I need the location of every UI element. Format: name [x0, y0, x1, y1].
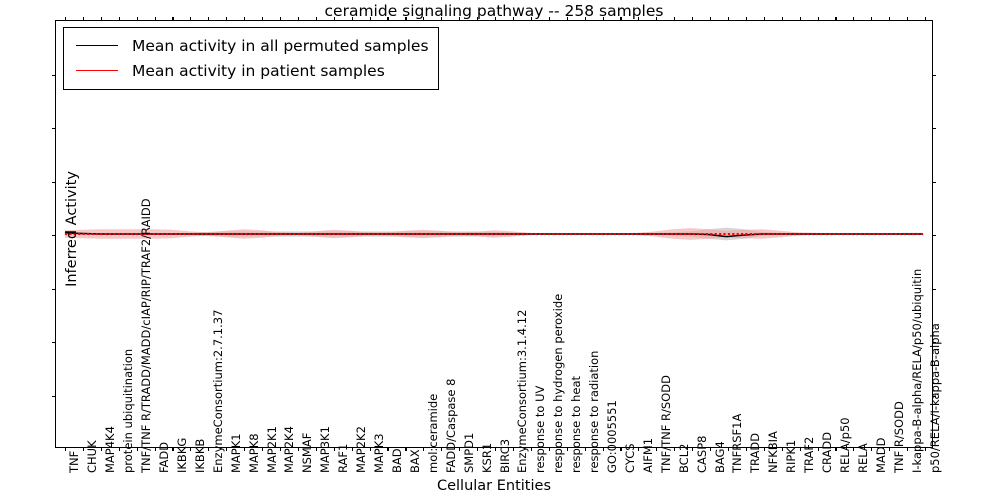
x-tick-mark [853, 447, 854, 451]
x-tick-mark [549, 447, 550, 451]
x-tick-mark [567, 17, 568, 21]
legend-item[interactable]: Mean activity in patient samples [73, 58, 429, 83]
x-tick-mark [871, 17, 872, 21]
x-tick-mark [495, 447, 496, 451]
x-tick-label: RIPK1 [786, 440, 798, 473]
x-tick-label: TNF [69, 451, 81, 473]
x-tick-label: CYCS [625, 443, 637, 473]
x-tick-label: BAG4 [715, 441, 727, 473]
x-tick-label: response to hydrogen peroxide [553, 294, 565, 473]
y-tick-mark [52, 128, 56, 129]
legend-label: Mean activity in all permuted samples [132, 37, 429, 55]
x-tick-mark [531, 447, 532, 451]
x-tick-label: MAPK1 [231, 433, 243, 473]
x-tick-mark [692, 17, 693, 21]
x-tick-mark [119, 17, 120, 21]
x-tick-label: EnzymeConsortium:2.7.1.37 [213, 310, 225, 473]
legend-line-swatch [76, 45, 118, 46]
x-tick-label: BIRC3 [500, 439, 512, 473]
x-tick-mark [710, 447, 711, 451]
x-tick-label: BAD [392, 448, 404, 473]
x-tick-mark [477, 17, 478, 21]
x-tick-mark [746, 447, 747, 451]
x-tick-mark [280, 447, 281, 451]
x-tick-mark [728, 17, 729, 21]
x-tick-mark [387, 17, 388, 21]
x-tick-mark [853, 17, 854, 21]
x-tick-mark [513, 447, 514, 451]
x-tick-label: MAPK8 [249, 433, 261, 473]
y-tick-mark [52, 75, 56, 76]
x-tick-mark [172, 447, 173, 451]
x-tick-mark [692, 447, 693, 451]
x-tick-mark [513, 17, 514, 21]
x-tick-mark [782, 17, 783, 21]
y-tick-mark [932, 289, 936, 290]
x-tick-mark [280, 17, 281, 21]
x-tick-mark [352, 447, 353, 451]
x-tick-label: KSR1 [482, 443, 494, 473]
x-tick-mark [172, 17, 173, 21]
x-tick-label: mol:ceramide [428, 394, 440, 473]
x-tick-label: FADD/Caspase 8 [446, 379, 458, 473]
x-tick-mark [262, 17, 263, 21]
x-tick-mark [549, 17, 550, 21]
x-tick-mark [65, 447, 66, 451]
x-tick-mark [567, 447, 568, 451]
x-tick-mark [119, 447, 120, 451]
chart-legend: Mean activity in all permuted samplesMea… [63, 27, 439, 90]
x-tick-mark [871, 447, 872, 451]
x-tick-mark [208, 447, 209, 451]
x-tick-label: RELA/p50 [840, 417, 852, 473]
x-tick-mark [459, 17, 460, 21]
x-tick-label: MAP2K1 [267, 426, 279, 473]
x-tick-mark [441, 17, 442, 21]
x-tick-label: TNF R/SODD [894, 401, 906, 473]
x-tick-label: CRADD [822, 432, 834, 473]
legend-item[interactable]: Mean activity in all permuted samples [73, 33, 429, 58]
x-tick-mark [298, 447, 299, 451]
x-tick-mark [83, 17, 84, 21]
x-tick-label: MAPK3 [374, 433, 386, 473]
y-tick-mark [52, 289, 56, 290]
x-tick-mark [137, 447, 138, 451]
x-tick-mark [710, 17, 711, 21]
x-tick-mark [101, 17, 102, 21]
y-tick-mark [932, 235, 936, 236]
x-tick-mark [137, 17, 138, 21]
y-tick-mark [932, 75, 936, 76]
x-tick-mark [728, 447, 729, 451]
legend-label: Mean activity in patient samples [132, 62, 385, 80]
x-tick-mark [620, 447, 621, 451]
x-tick-mark [674, 17, 675, 21]
x-tick-label: MAP2K2 [356, 426, 368, 473]
x-tick-mark [925, 447, 926, 451]
x-tick-mark [638, 17, 639, 21]
y-tick-mark [52, 182, 56, 183]
x-tick-mark [405, 17, 406, 21]
x-tick-label: MAP2K4 [284, 426, 296, 473]
x-tick-mark [244, 17, 245, 21]
x-tick-label: response to UV [535, 386, 547, 473]
x-tick-label: TNF/TNF R/TRADD/MADD/cIAP/RIP/TRAF2/RAID… [141, 198, 153, 473]
x-tick-mark [764, 17, 765, 21]
x-tick-mark [441, 447, 442, 451]
x-tick-label: TNFRSF1A [732, 414, 744, 473]
x-tick-mark [101, 447, 102, 451]
x-tick-mark [925, 17, 926, 21]
x-tick-mark [405, 447, 406, 451]
x-tick-mark [746, 17, 747, 21]
x-tick-mark [800, 447, 801, 451]
x-tick-label: NFKBIA [768, 431, 780, 473]
x-tick-mark [190, 17, 191, 21]
legend-line-swatch [76, 70, 118, 71]
x-tick-mark [226, 17, 227, 21]
x-tick-mark [818, 17, 819, 21]
x-tick-mark [603, 17, 604, 21]
x-tick-mark [83, 447, 84, 451]
x-tick-mark [889, 17, 890, 21]
x-tick-label: CASP8 [697, 436, 709, 473]
x-tick-mark [907, 447, 908, 451]
y-tick-mark [932, 128, 936, 129]
x-tick-label: SMPD1 [464, 433, 476, 473]
x-tick-label: response to heat [571, 376, 583, 473]
x-tick-mark [585, 17, 586, 21]
x-tick-mark [387, 447, 388, 451]
x-tick-mark [907, 17, 908, 21]
x-tick-mark [316, 447, 317, 451]
x-tick-mark [65, 17, 66, 21]
x-tick-mark [603, 447, 604, 451]
x-tick-label: CHUK [87, 440, 99, 473]
x-tick-mark [800, 17, 801, 21]
x-tick-mark [656, 17, 657, 21]
x-tick-label: protein ubiquitination [123, 349, 135, 473]
x-tick-mark [262, 447, 263, 451]
x-tick-mark [889, 447, 890, 451]
x-tick-label: FADD [159, 442, 171, 473]
x-tick-mark [477, 447, 478, 451]
x-tick-label: MADD [876, 438, 888, 474]
x-tick-label: IKBKB [195, 439, 207, 473]
x-tick-mark [208, 17, 209, 21]
x-tick-mark [818, 447, 819, 451]
x-tick-mark [334, 17, 335, 21]
figure-canvas: ceramide signaling pathway -- 258 sample… [0, 0, 1000, 500]
y-tick-mark [52, 235, 56, 236]
x-axis-label: Cellular Entities [55, 478, 933, 494]
x-tick-mark [155, 17, 156, 21]
x-tick-mark [298, 17, 299, 21]
y-tick-mark [52, 342, 56, 343]
x-tick-label: NSMAF [302, 433, 314, 473]
x-tick-mark [495, 17, 496, 21]
x-tick-label: MAP4K4 [105, 426, 117, 473]
x-tick-label: BAX [410, 449, 422, 473]
x-tick-mark [835, 17, 836, 21]
x-tick-mark [316, 17, 317, 21]
x-tick-mark [459, 447, 460, 451]
x-tick-mark [674, 447, 675, 451]
x-tick-label: BCL2 [679, 444, 691, 473]
x-tick-mark [370, 17, 371, 21]
x-tick-mark [531, 17, 532, 21]
chart-title: ceramide signaling pathway -- 258 sample… [55, 2, 933, 20]
x-tick-mark [423, 447, 424, 451]
x-tick-mark [620, 17, 621, 21]
x-tick-mark [155, 447, 156, 451]
x-tick-label: GO:0005551 [607, 400, 619, 473]
x-tick-mark [585, 447, 586, 451]
x-tick-label: EnzymeConsortium:3.1.4.12 [517, 310, 529, 473]
x-tick-mark [226, 447, 227, 451]
x-tick-mark [190, 447, 191, 451]
y-tick-mark [52, 396, 56, 397]
x-tick-label: TRAF2 [804, 437, 816, 473]
x-tick-mark [638, 447, 639, 451]
x-tick-mark [764, 447, 765, 451]
x-tick-mark [835, 447, 836, 451]
x-tick-label: RELA [858, 443, 870, 473]
x-tick-label: RAF1 [338, 444, 350, 473]
x-tick-label: MAP3K1 [320, 426, 332, 473]
x-tick-label: I-kappa-B-alpha/RELA/p50/ubiquitin [912, 269, 924, 473]
x-tick-mark [352, 17, 353, 21]
x-tick-mark [656, 447, 657, 451]
y-tick-mark [932, 182, 936, 183]
x-tick-label: AIFM1 [643, 438, 655, 473]
x-tick-mark [334, 447, 335, 451]
x-tick-label: response to radiation [589, 351, 601, 473]
x-tick-mark [370, 447, 371, 451]
x-tick-label: TRADD [750, 433, 762, 473]
x-tick-mark [244, 447, 245, 451]
x-tick-label: IKBKG [177, 438, 189, 473]
x-tick-label: p50/RELA/I-kappa-B-alpha [930, 323, 942, 473]
x-tick-mark [423, 17, 424, 21]
x-tick-label: TNF/TNF R/SODD [661, 375, 673, 473]
x-tick-mark [782, 447, 783, 451]
